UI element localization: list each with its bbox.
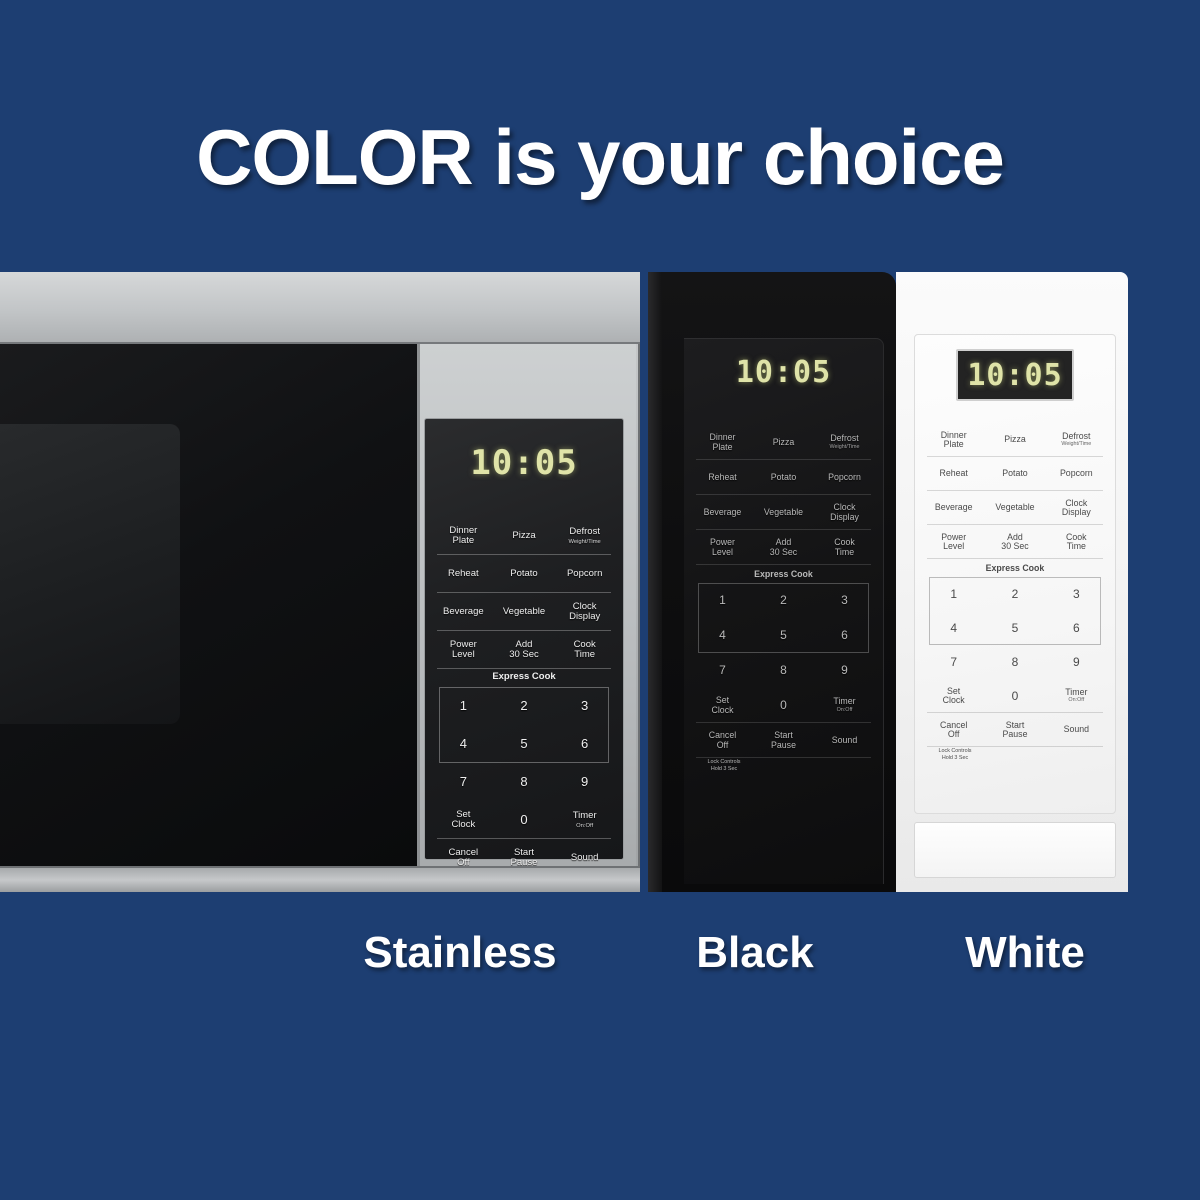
function-button[interactable]: PowerLevel [433,631,494,669]
keypad-function-button[interactable]: StartPause [753,723,814,758]
lock-controls-hint-line1: Lock Controls [692,759,756,766]
function-button[interactable]: Reheat [923,457,984,491]
keypad-button-label: 3 [1073,588,1080,601]
function-button-label: Popcorn [567,569,602,579]
keypad-number-button[interactable]: 4 [923,611,984,645]
function-button[interactable]: DinnerPlate [433,517,494,555]
keypad-button-label: 8 [1012,656,1019,669]
keypad-number-button[interactable]: 3 [814,583,875,618]
stainless-panel-plate: 10:05DinnerPlatePizzaDefrostWeight/TimeR… [420,344,636,866]
function-button-label-line2: Plate [453,536,475,546]
clock-readout: 10:05 [967,358,1062,393]
keypad-button-label: Timer [573,811,597,821]
keypad-button-label: 1 [460,699,467,713]
keypad-button-label: 3 [581,699,588,713]
function-button-label: Popcorn [828,473,861,483]
lock-controls-hint-line2: Hold 3 Sec [692,766,756,773]
function-button[interactable]: Pizza [753,425,814,460]
microwave-stainless[interactable]: 10:05DinnerPlatePizzaDefrostWeight/TimeR… [0,272,640,892]
headline: COLOR is your choice [0,112,1200,203]
function-button-label-line2: Plate [712,443,732,453]
keypad-function-button[interactable]: TimerOn:Off [554,801,615,839]
keypad-function-button[interactable]: SetClock [923,679,984,713]
keypad-function-button[interactable]: TimerOn:Off [814,688,875,723]
function-button-label-line2: Time [835,548,854,558]
keypad-button-label: Timer [833,697,855,707]
keypad-number-button[interactable]: 9 [1046,645,1107,679]
stainless-bottom-trim [0,866,640,892]
keypad-button-label: 5 [780,629,787,642]
function-button-label: Beverage [704,508,742,518]
function-button-label-line2: Time [574,650,595,660]
function-button-label: Vegetable [995,503,1034,513]
microwave-lineup: 10:05DinnerPlatePizzaDefrostWeight/TimeR… [0,272,1200,892]
function-button-label: Potato [771,473,796,483]
white-door-handle[interactable] [914,822,1116,878]
keypad-number-button[interactable]: 5 [494,725,555,763]
keypad-row-divider [437,838,611,839]
display-area: 10:05 [915,349,1115,401]
keypad-button-label: 3 [841,594,848,607]
function-button-label: Defrost [569,527,600,537]
caption-black: Black [650,928,860,978]
keypad-button-label-line2: Pause [1003,730,1028,740]
lock-controls-hint-line1: Lock Controls [923,748,987,755]
keypad-button-label: 9 [841,664,848,677]
keypad-row-divider [927,746,1103,747]
keypad-button-label: 6 [1073,622,1080,635]
function-button[interactable]: ClockDisplay [1046,491,1107,525]
keypad-button-label: 7 [950,656,957,669]
function-button[interactable]: Add30 Sec [494,631,555,669]
function-button-label: Potato [1002,469,1027,479]
keypad-button-label: 1 [950,588,957,601]
stainless-door-window [0,424,180,724]
function-button[interactable]: ClockDisplay [814,495,875,530]
keypad-number-button[interactable]: 5 [753,618,814,653]
button-row-divider [696,459,871,460]
keypad-number-button[interactable]: 5 [984,611,1045,645]
keypad-number-button[interactable]: 7 [923,645,984,679]
keypad-button-label: 8 [520,775,527,789]
keypad-number-button[interactable]: 1 [692,583,753,618]
keypad-number-button[interactable]: 4 [692,618,753,653]
keypad-button-label: 0 [520,813,527,827]
display-area: 10:05 [684,351,883,394]
function-button-label: Vegetable [503,607,545,617]
function-button-sublabel: Weight/Time [830,445,860,451]
keypad-number-button[interactable]: 6 [1046,611,1107,645]
caption-white: White [920,928,1130,978]
keypad-button-label-line2: Off [948,730,960,740]
function-button[interactable]: Beverage [433,593,494,631]
keypad-row-divider [927,712,1103,713]
stainless-top-trim [0,272,640,344]
keypad-number-button[interactable]: 7 [692,653,753,688]
keypad-button-sublabel: On:Off [1068,698,1084,704]
function-button[interactable]: Vegetable [753,495,814,530]
keypad-function-button[interactable]: SetClock [433,801,494,839]
keypad-number-button[interactable]: 1 [923,577,984,611]
button-row-divider [927,558,1103,559]
keypad-number-button[interactable]: 0 [494,801,555,839]
function-button[interactable]: CookTime [1046,525,1107,559]
keypad-button-label: 8 [780,664,787,677]
function-button-label-line2: 30 Sec [509,650,539,660]
function-button-grid: DinnerPlatePizzaDefrostWeight/TimeReheat… [923,423,1107,559]
keypad-function-button[interactable]: StartPause [984,713,1045,747]
clock-readout: 10:05 [470,443,577,483]
function-button-label: Beverage [443,607,484,617]
function-button-label-line2: Level [943,542,964,552]
function-button[interactable]: DefrostWeight/Time [554,517,615,555]
function-button[interactable]: Popcorn [814,460,875,495]
keypad-function-button[interactable]: TimerOn:Off [1046,679,1107,713]
lock-controls-hint: Lock ControlsHold 3 Sec [692,759,756,773]
function-button[interactable]: Popcorn [554,555,615,593]
express-cook-title: Express Cook [425,671,623,682]
keypad-button-label: 9 [581,775,588,789]
keypad-button-label: 5 [520,737,527,751]
button-row-divider [927,490,1103,491]
keypad-button-label: Sound [832,736,857,746]
keypad-button-label: 2 [520,699,527,713]
function-button-label: Defrost [830,434,858,444]
function-button-label: Defrost [1062,432,1090,442]
keypad: 123456789SetClock0TimerOn:OffCancelOffSt… [433,687,615,877]
control-panel-contents-black: 10:05DinnerPlatePizzaDefrostWeight/TimeR… [684,339,883,884]
function-button[interactable]: DinnerPlate [923,423,984,457]
keypad-number-button[interactable]: 0 [753,688,814,723]
stainless-door[interactable] [0,344,420,866]
function-button-sublabel: Weight/Time [569,539,601,545]
keypad-button-label: 6 [581,737,588,751]
function-button[interactable]: PowerLevel [692,530,753,565]
keypad-button-label: 5 [1012,622,1019,635]
keypad-button-label: 7 [719,664,726,677]
keypad-button-label-line2: Clock [712,706,734,716]
function-button[interactable]: DinnerPlate [692,425,753,460]
keypad-number-button[interactable]: 7 [433,763,494,801]
function-button-label-line2: Time [1067,542,1086,552]
keypad-number-button[interactable]: 8 [753,653,814,688]
function-button-sublabel: Weight/Time [1061,442,1091,448]
function-button-label-line2: Level [452,650,475,660]
keypad-number-button[interactable]: 8 [494,763,555,801]
keypad-function-button[interactable]: SetClock [692,688,753,723]
function-button-label-line2: 30 Sec [770,548,797,558]
function-button-label-line2: Plate [944,440,964,450]
function-button-label-line2: 30 Sec [1001,542,1028,552]
microwave-white[interactable]: 10:05DinnerPlatePizzaDefrostWeight/TimeR… [896,272,1128,892]
keypad: 123456789SetClock0TimerOn:OffCancelOffSt… [923,577,1107,747]
keypad-number-button[interactable]: 2 [984,577,1045,611]
keypad-button-label: 1 [719,594,726,607]
function-button-label-line2: Display [569,612,600,622]
function-button-label: Reheat [708,473,736,483]
keypad-button-label: Sound [1064,725,1089,735]
function-button[interactable]: Pizza [984,423,1045,457]
function-button[interactable]: Pizza [494,517,555,555]
keypad-button-label: 4 [950,622,957,635]
button-row-divider [696,494,871,495]
function-button[interactable]: Beverage [923,491,984,525]
function-button[interactable]: CookTime [554,631,615,669]
keypad-row-divider [696,722,871,723]
keypad-number-button[interactable]: 1 [433,687,494,725]
keypad-button-label: 0 [1012,690,1019,703]
function-button-label: Potato [510,569,537,579]
function-button[interactable]: DefrostWeight/Time [814,425,875,460]
function-button-label: Pizza [512,531,535,541]
product-color-comparison-graphic: COLOR is your choice 10:05DinnerPlatePiz… [0,0,1200,1200]
keypad-number-button[interactable]: 4 [433,725,494,763]
keypad-button-label: 0 [780,699,787,712]
function-button-label: Vegetable [764,508,803,518]
keypad-number-button[interactable]: 9 [554,763,615,801]
function-button-grid: DinnerPlatePizzaDefrostWeight/TimeReheat… [433,517,615,669]
function-button[interactable]: Add30 Sec [984,525,1045,559]
keypad-number-button[interactable]: 3 [554,687,615,725]
black-control-panel[interactable]: 10:05DinnerPlatePizzaDefrostWeight/TimeR… [684,338,884,884]
function-button[interactable]: Add30 Sec [753,530,814,565]
function-button[interactable]: Beverage [692,495,753,530]
lock-controls-hint-line2: Hold 3 Sec [923,755,987,762]
function-button[interactable]: Potato [984,457,1045,491]
keypad-number-button[interactable]: 6 [814,618,875,653]
keypad-function-button[interactable]: CancelOff [923,713,984,747]
function-button-label: Reheat [448,569,479,579]
button-row-divider [696,529,871,530]
keypad-button-label: 9 [1073,656,1080,669]
function-button[interactable]: Vegetable [494,593,555,631]
keypad-button-label: 7 [460,775,467,789]
button-row-divider [437,554,611,555]
function-button[interactable]: Potato [494,555,555,593]
keypad-row-divider [696,757,871,758]
function-button[interactable]: Vegetable [984,491,1045,525]
keypad-button-label: Timer [1065,688,1087,698]
function-button[interactable]: Reheat [433,555,494,593]
keypad-button-label-line2: Clock [943,696,965,706]
keypad-function-button[interactable]: CancelOff [692,723,753,758]
control-panel-contents-stainless: 10:05DinnerPlatePizzaDefrostWeight/TimeR… [425,419,623,859]
express-cook-title: Express Cook [915,563,1115,573]
function-button-label: Beverage [935,503,973,513]
function-button-label: Popcorn [1060,469,1093,479]
keypad-button-label: 4 [719,629,726,642]
keypad-button-label: 4 [460,737,467,751]
keypad-number-button[interactable]: 6 [554,725,615,763]
function-button[interactable]: CookTime [814,530,875,565]
function-button[interactable]: PowerLevel [923,525,984,559]
function-button-label-line2: Display [830,513,859,523]
led-display: 10:05 [956,349,1074,401]
function-button[interactable]: Popcorn [1046,457,1107,491]
keypad-button-label-line2: Off [717,741,729,751]
keypad-button-label: 2 [1012,588,1019,601]
function-button-label: Pizza [773,438,795,448]
button-row-divider [696,564,871,565]
keypad-button-label: 6 [841,629,848,642]
function-button-label: Reheat [939,469,967,479]
keypad-button-label: Sound [571,853,598,863]
function-button[interactable]: Reheat [692,460,753,495]
function-button[interactable]: Potato [753,460,814,495]
display-area: 10:05 [425,439,623,487]
function-button[interactable]: ClockDisplay [554,593,615,631]
function-button[interactable]: DefrostWeight/Time [1046,423,1107,457]
keypad-number-button[interactable]: 9 [814,653,875,688]
lock-controls-hint: Lock ControlsHold 3 Sec [923,748,987,762]
keypad-button-label-line2: Clock [451,820,475,830]
caption-stainless: Stainless [330,928,590,978]
keypad-number-button[interactable]: 8 [984,645,1045,679]
keypad-number-button[interactable]: 2 [494,687,555,725]
keypad-function-button[interactable]: Sound [814,723,875,758]
button-row-divider [437,668,611,669]
function-button-label-line2: Level [712,548,733,558]
keypad-button-sublabel: On:Off [837,708,853,714]
keypad-number-button[interactable]: 0 [984,679,1045,713]
keypad-button-sublabel: On:Off [576,823,593,829]
keypad: 123456789SetClock0TimerOn:OffCancelOffSt… [692,583,875,758]
keypad-function-button[interactable]: Sound [1046,713,1107,747]
microwave-black[interactable]: 10:05DinnerPlatePizzaDefrostWeight/TimeR… [648,272,896,892]
keypad-number-button[interactable]: 2 [753,583,814,618]
control-panel-contents-white: 10:05DinnerPlatePizzaDefrostWeight/TimeR… [915,335,1115,813]
black-door-edge [648,272,662,892]
function-button-grid: DinnerPlatePizzaDefrostWeight/TimeReheat… [692,425,875,565]
button-row-divider [437,592,611,593]
keypad-button-label-line2: Pause [771,741,796,751]
button-row-divider [927,456,1103,457]
stainless-control-panel[interactable]: 10:05DinnerPlatePizzaDefrostWeight/TimeR… [424,418,624,860]
button-row-divider [437,630,611,631]
function-button-label: Pizza [1004,435,1026,445]
led-display: 10:05 [460,439,587,487]
function-button-label-line2: Display [1062,508,1091,518]
clock-readout: 10:05 [736,355,831,390]
express-cook-title: Express Cook [684,569,883,579]
led-display: 10:05 [726,351,841,394]
keypad-button-label: 2 [780,594,787,607]
white-control-panel[interactable]: 10:05DinnerPlatePizzaDefrostWeight/TimeR… [914,334,1116,814]
button-row-divider [927,524,1103,525]
keypad-number-button[interactable]: 3 [1046,577,1107,611]
